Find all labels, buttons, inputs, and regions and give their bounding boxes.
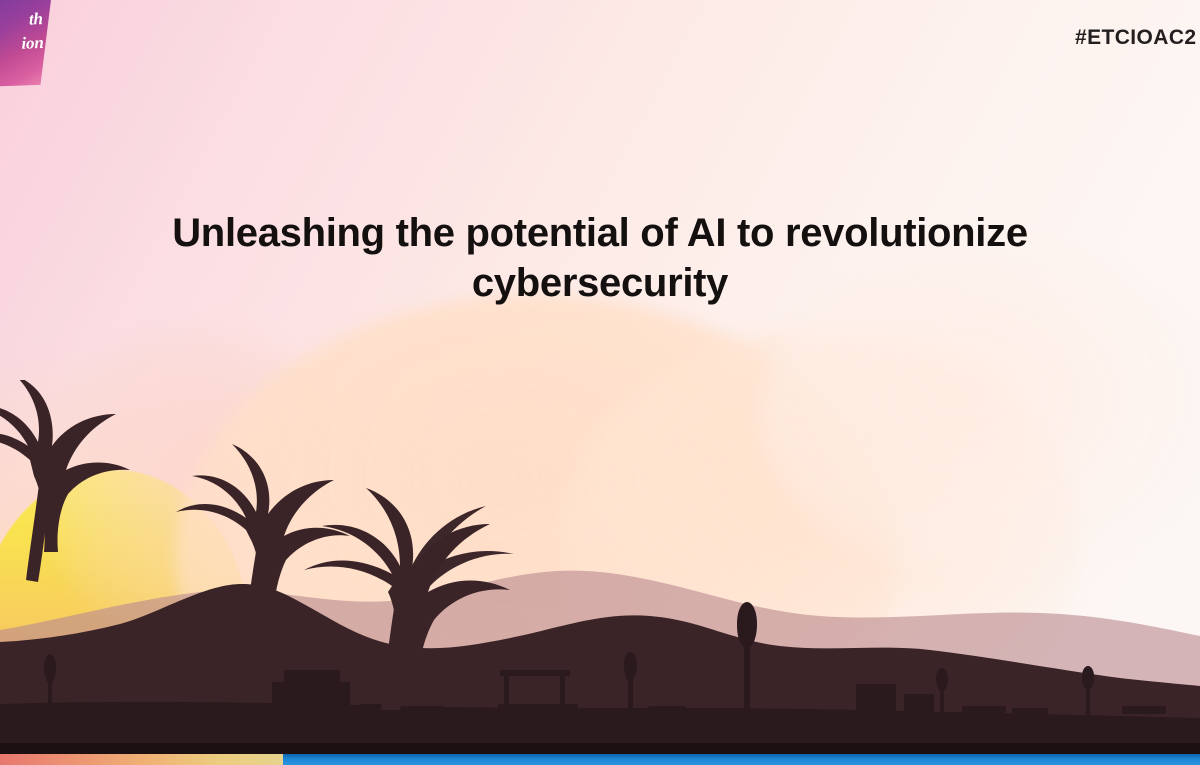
bottom-accent-strip bbox=[0, 754, 1200, 765]
edition-badge-text: th ion bbox=[20, 7, 44, 55]
event-hashtag: #ETCIOAC2 bbox=[1075, 26, 1196, 50]
edition-badge-line2: ion bbox=[21, 31, 44, 56]
strip-blue-segment bbox=[283, 754, 1200, 765]
slide-title: Unleashing the potential of AI to revolu… bbox=[0, 208, 1200, 308]
palm-tree-icon bbox=[0, 380, 130, 582]
palm-tree-icon bbox=[410, 506, 514, 586]
palm-tree-icon bbox=[176, 444, 350, 654]
palm-tree-icon bbox=[304, 488, 510, 710]
presentation-slide: th ion #ETCIOAC2 Unleashing the potentia… bbox=[0, 0, 1200, 765]
strip-warm-segment bbox=[0, 754, 283, 765]
palm-trees-layer bbox=[0, 380, 1200, 710]
edition-badge-line1: th bbox=[20, 7, 43, 32]
